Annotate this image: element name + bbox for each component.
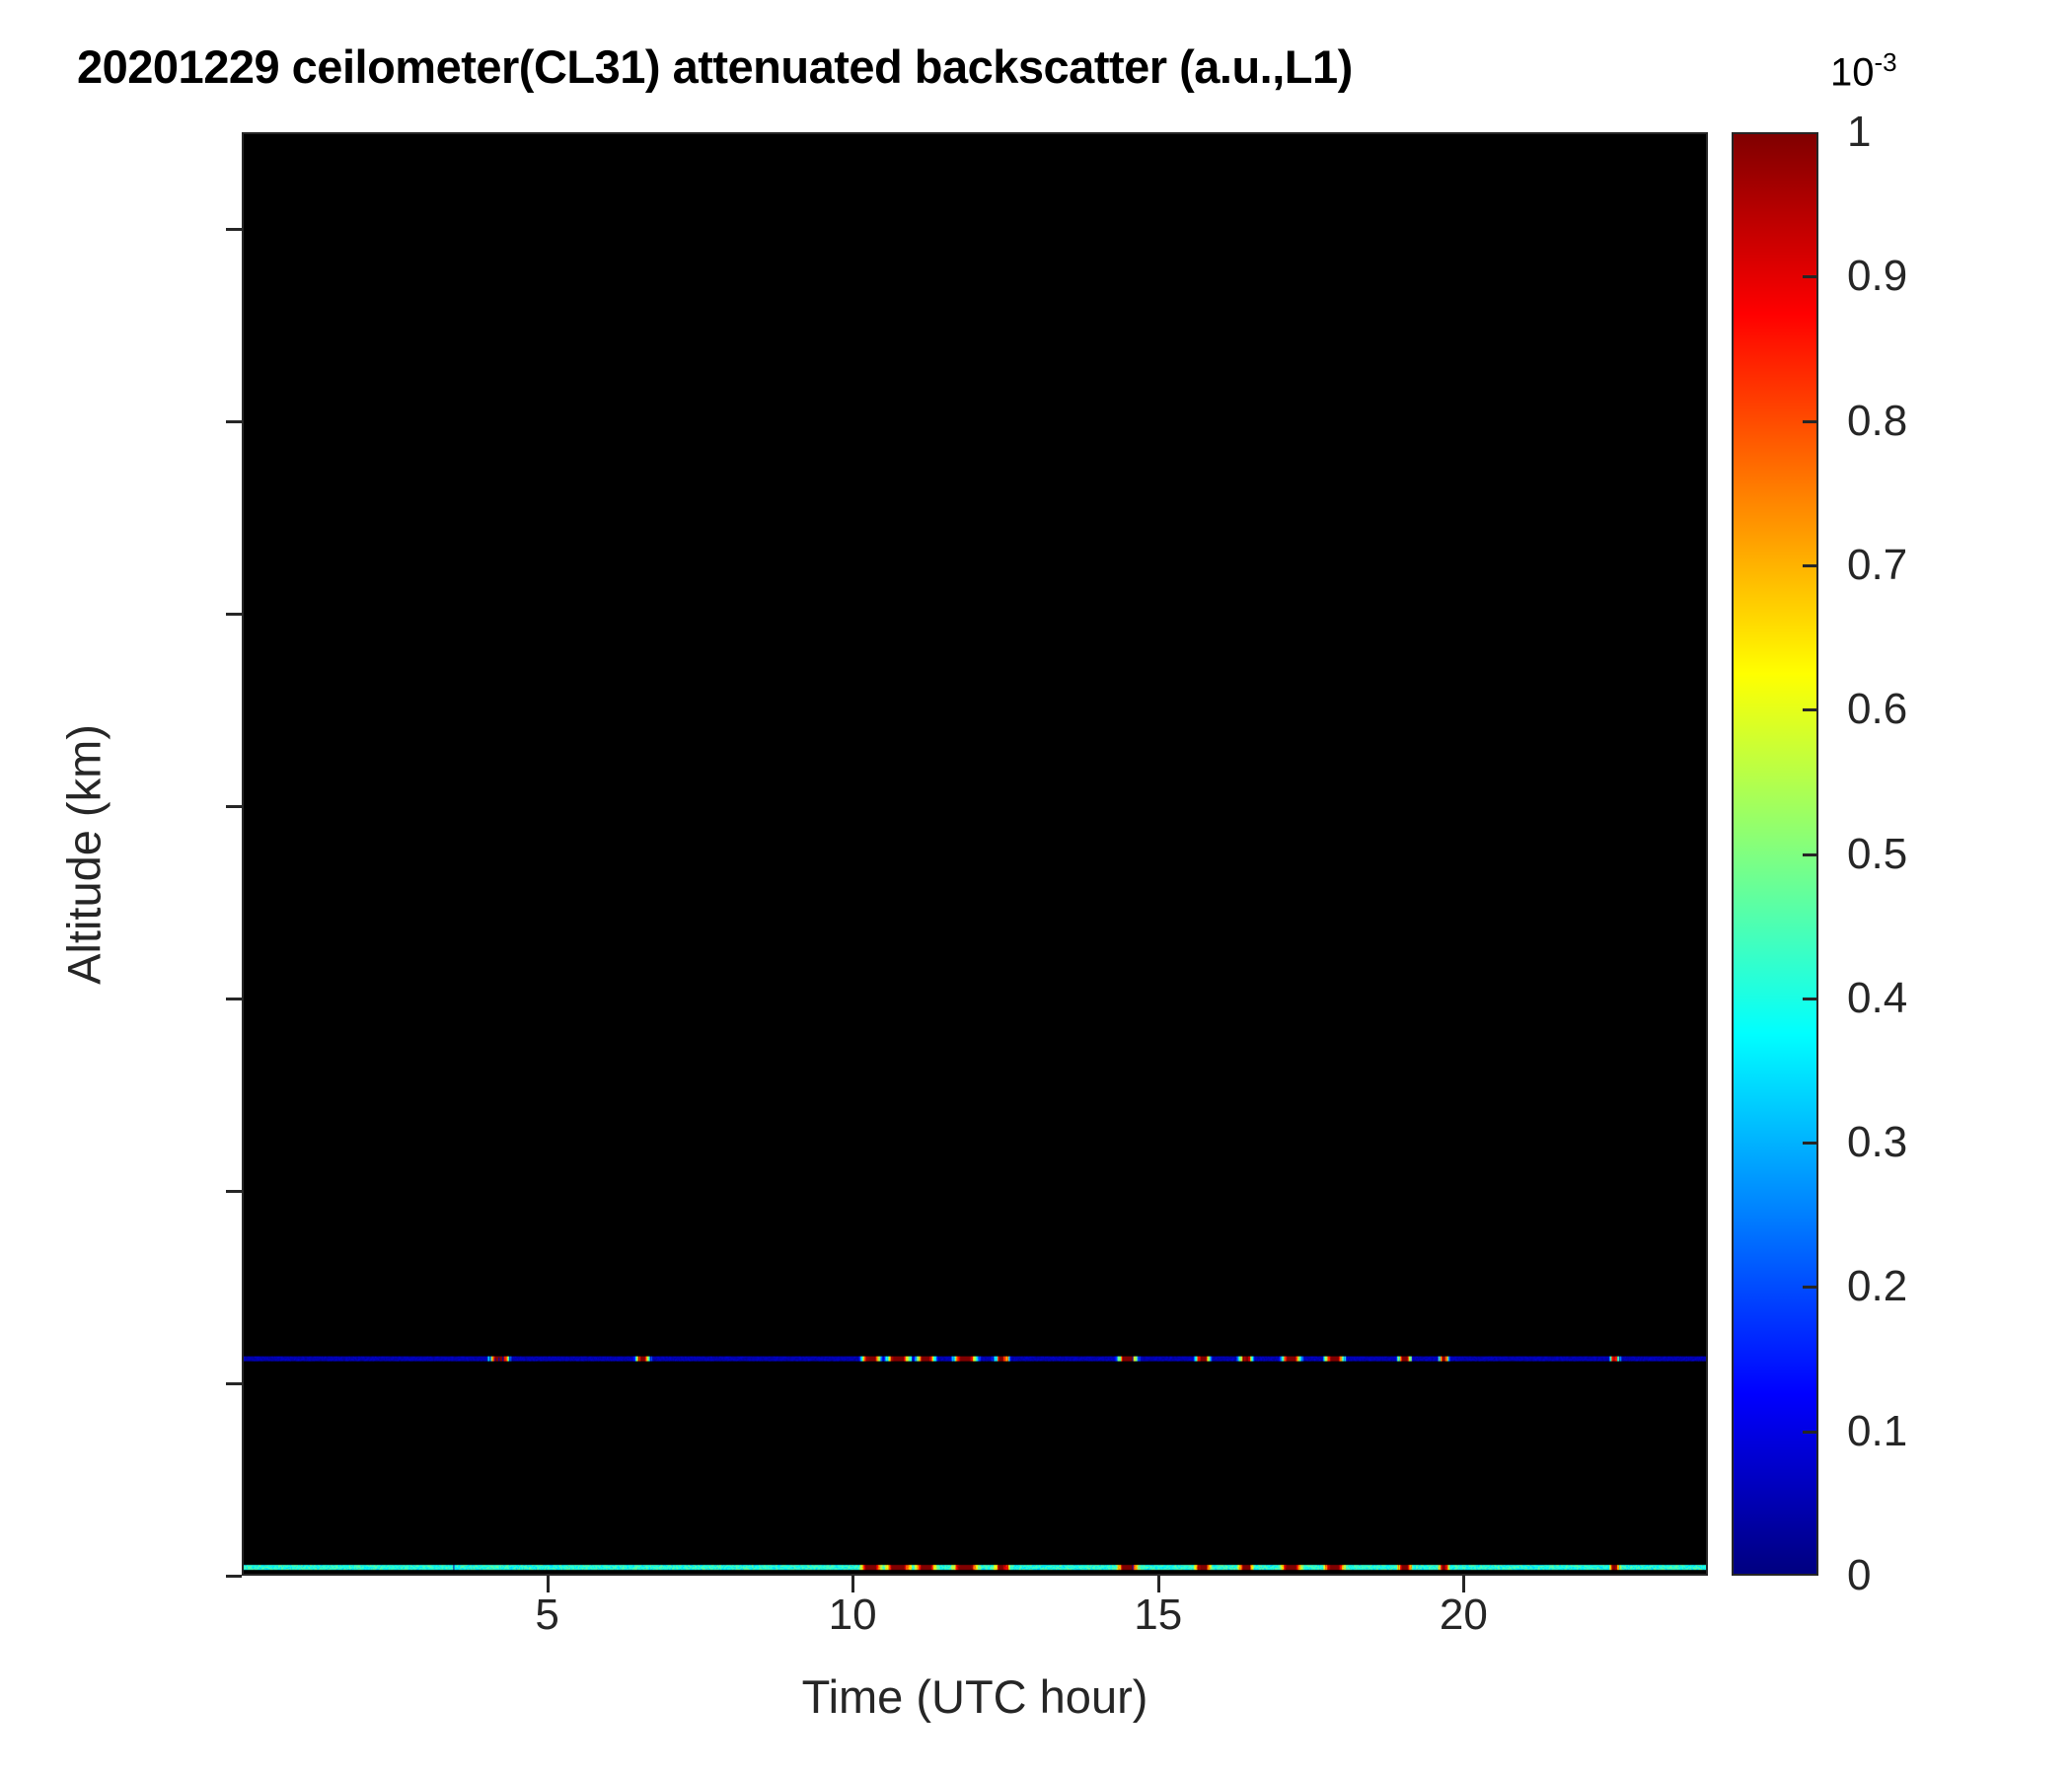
y-axis-tick-mark <box>226 420 242 423</box>
x-axis-label: Time (UTC hour) <box>802 1669 1148 1724</box>
colorbar-tick-label: 0.2 <box>1847 1262 1907 1311</box>
colorbar-tick-label: 0.5 <box>1847 830 1907 879</box>
colorbar-tick-label: 0 <box>1847 1551 1871 1600</box>
colorbar-tick-label: 0.9 <box>1847 252 1907 301</box>
colorbar-tick-label: 0.6 <box>1847 685 1907 734</box>
x-axis-tick-label: 20 <box>1440 1591 1488 1640</box>
colorbar-tick-label: 0.1 <box>1847 1407 1907 1456</box>
x-axis-tick-mark <box>1157 1576 1160 1592</box>
x-axis-tick-mark <box>547 1576 550 1592</box>
x-axis-tick-label: 5 <box>535 1591 558 1640</box>
figure-container: 20201229 ceilometer(CL31) attenuated bac… <box>0 0 2072 1776</box>
chart-title: 20201229 ceilometer(CL31) attenuated bac… <box>77 39 1353 94</box>
plot-axes[interactable] <box>242 132 1708 1576</box>
colorbar-tick-label: 0.8 <box>1847 397 1907 446</box>
y-axis-tick-mark <box>226 1382 242 1385</box>
colorbar-tick-mark <box>1803 1431 1818 1434</box>
y-axis-tick-mark <box>226 998 242 1000</box>
y-axis-tick-mark <box>226 1575 242 1578</box>
colorbar-tick-label: 0.4 <box>1847 974 1907 1023</box>
colorbar-tick-mark <box>1803 1286 1818 1289</box>
y-axis-tick-mark <box>226 805 242 808</box>
colorbar-exponent-power: -3 <box>1875 47 1897 77</box>
y-axis-label: Altitude (km) <box>57 724 111 985</box>
colorbar-tick-mark <box>1803 564 1818 567</box>
x-axis-tick-mark <box>1462 1576 1465 1592</box>
x-axis-tick-label: 10 <box>829 1591 877 1640</box>
colorbar-tick-mark <box>1803 1142 1818 1145</box>
y-axis-tick-mark <box>226 228 242 231</box>
colorbar-tick-mark <box>1803 420 1818 423</box>
colorbar-tick-mark <box>1803 708 1818 711</box>
y-axis-tick-mark <box>226 1190 242 1193</box>
colorbar-tick-mark <box>1803 998 1818 1000</box>
colorbar-exponent-label: 10-3 <box>1830 47 1897 95</box>
colorbar-tick-mark <box>1803 275 1818 278</box>
colorbar-tick-label: 0.3 <box>1847 1118 1907 1167</box>
colorbar-tick-label: 1 <box>1847 108 1871 157</box>
colorbar-exponent-base: 10 <box>1830 50 1875 94</box>
y-axis-tick-mark <box>226 613 242 616</box>
heatmap-data-canvas[interactable] <box>244 134 1706 1574</box>
colorbar-tick-mark <box>1803 853 1818 856</box>
x-axis-tick-mark <box>851 1576 854 1592</box>
colorbar-tick-label: 0.7 <box>1847 541 1907 590</box>
x-axis-tick-label: 15 <box>1134 1591 1182 1640</box>
